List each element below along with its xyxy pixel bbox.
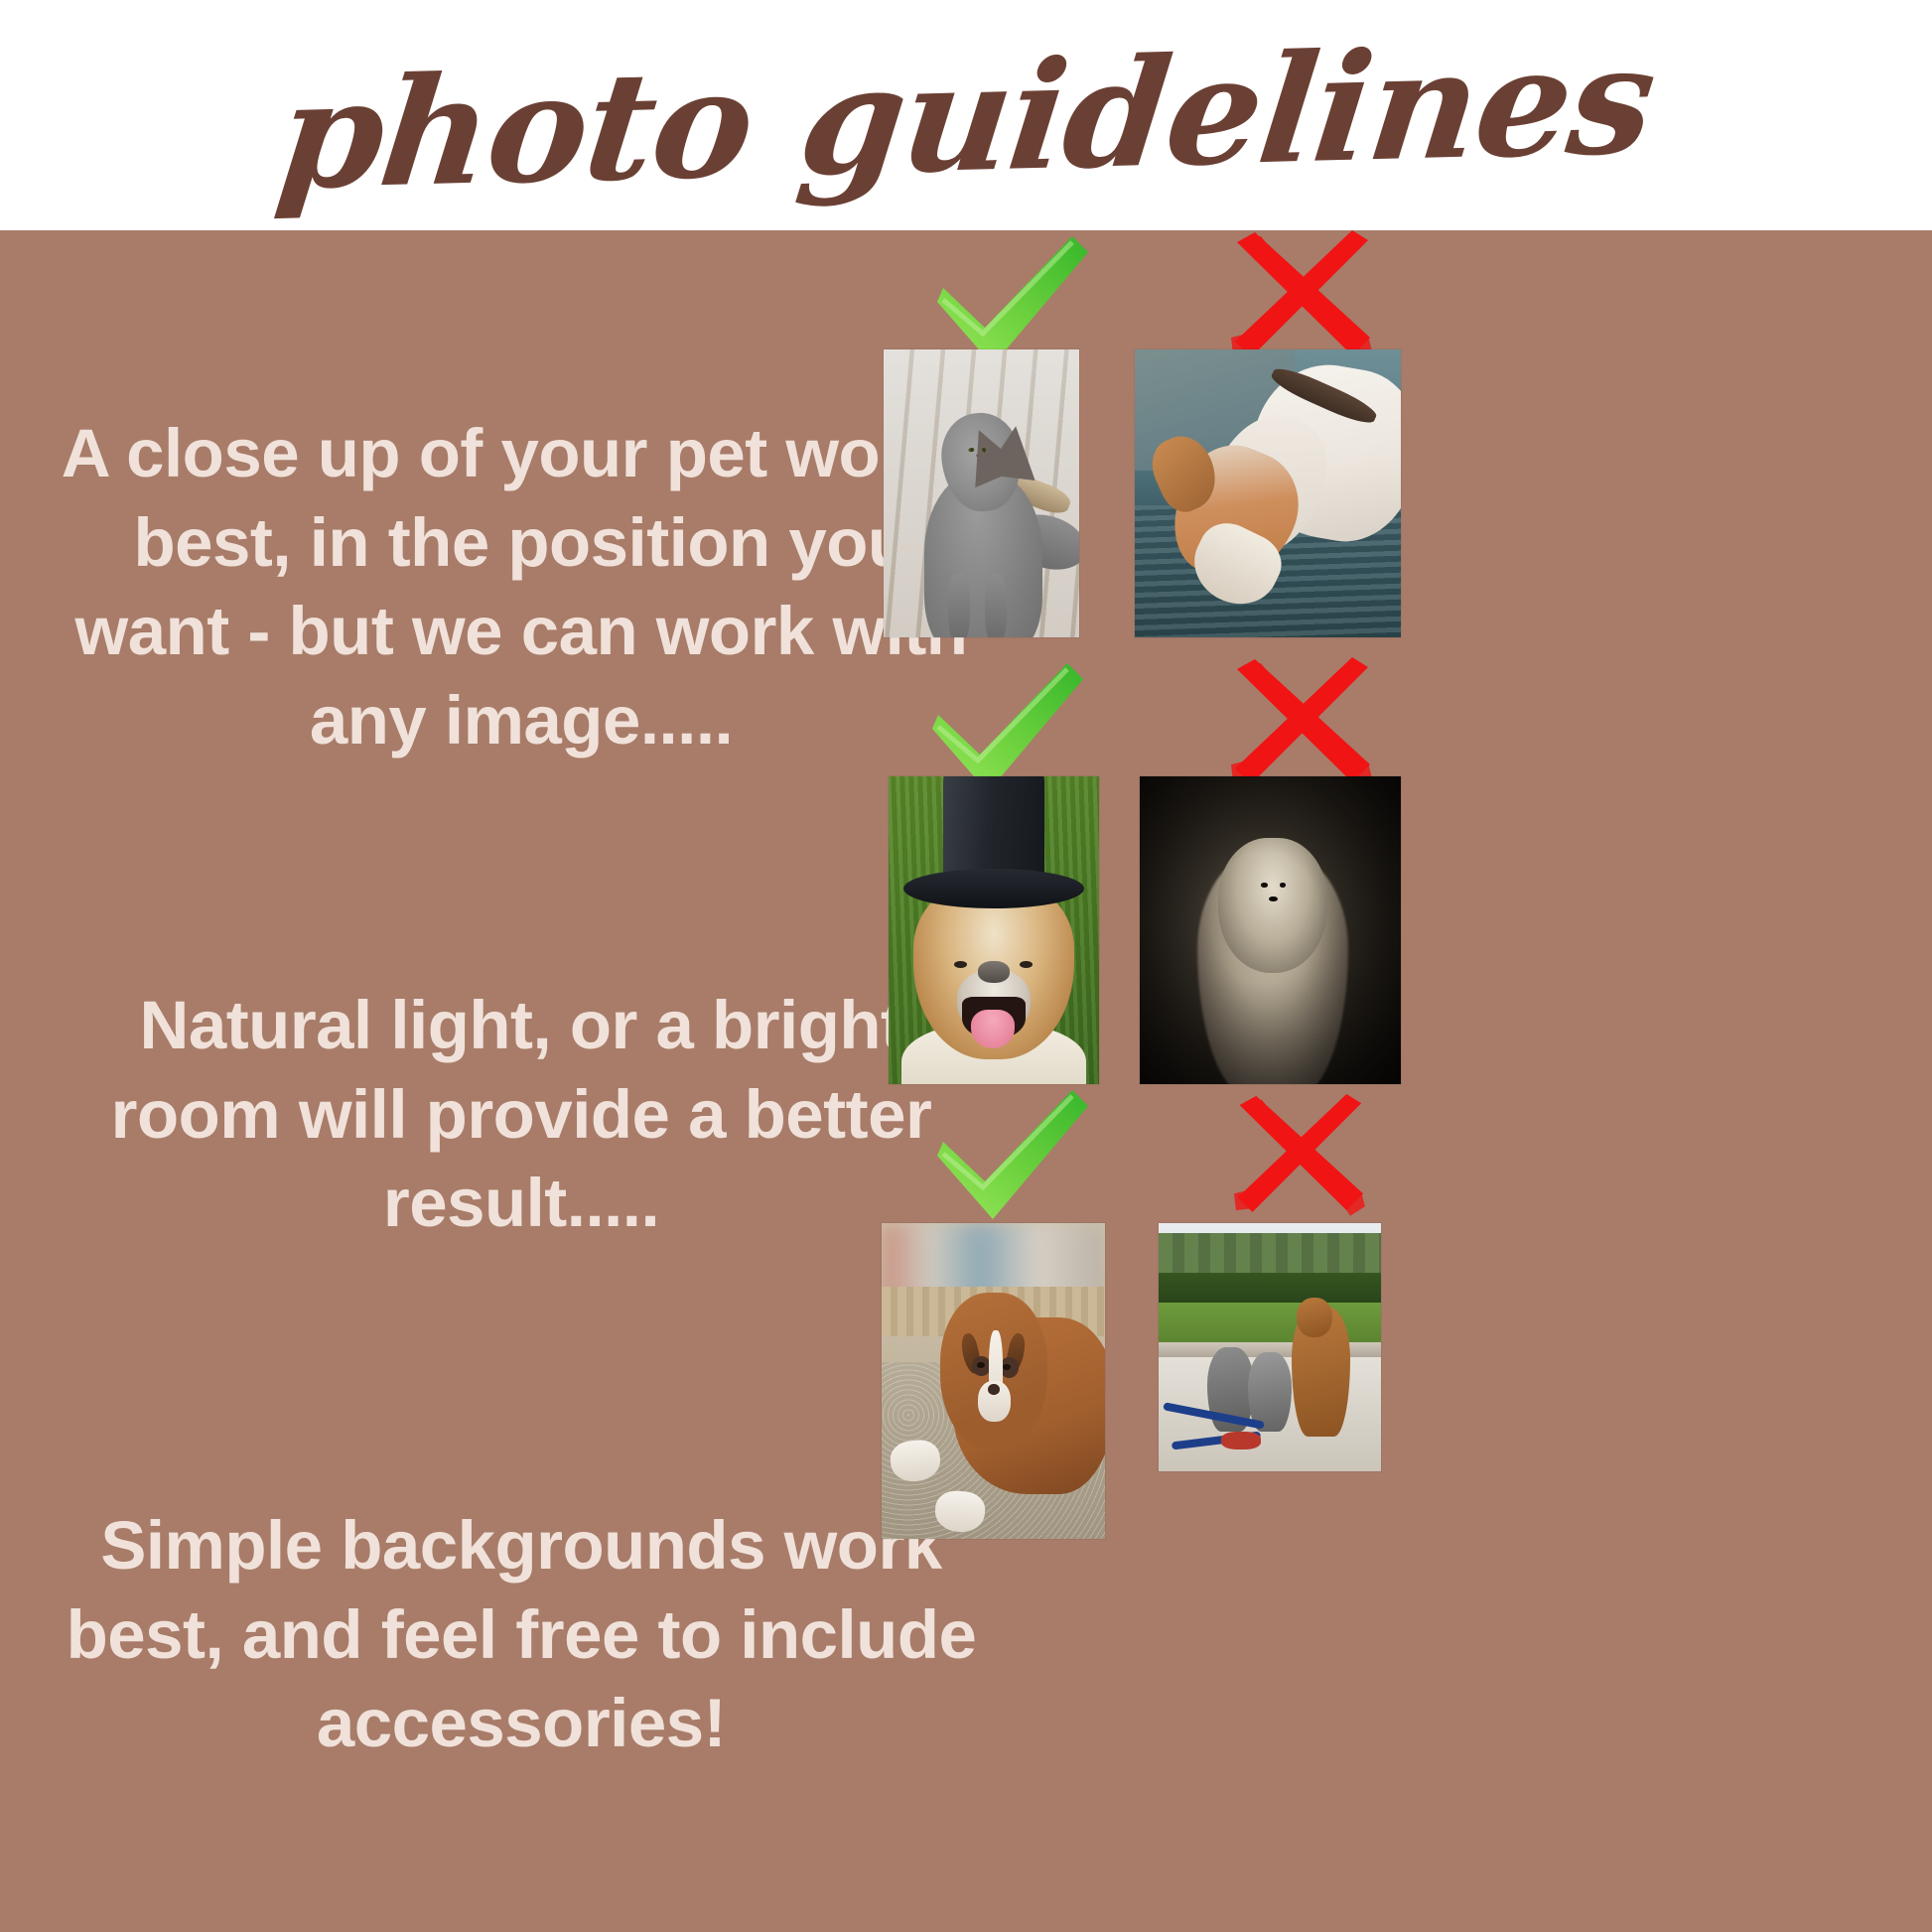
tip-text-2: Natural light, or a bright room will pro…: [60, 981, 983, 1248]
guidelines-body: A close up of your pet works best, in th…: [0, 230, 1932, 1932]
cross-mark-icon-1: [1221, 230, 1380, 369]
bad-photo-3: [1159, 1223, 1381, 1471]
cross-mark-icon-3: [1224, 1094, 1373, 1223]
header-banner: photo guidelines: [0, 0, 1932, 230]
check-mark-icon-2: [918, 657, 1097, 796]
bad-photo-2: [1140, 776, 1401, 1084]
check-mark-icon-3: [923, 1084, 1102, 1223]
good-photo-2: [889, 776, 1099, 1084]
cross-mark-icon-2: [1221, 657, 1380, 796]
check-mark-icon-1: [923, 230, 1102, 369]
good-photo-1: [884, 349, 1079, 637]
bad-photo-1: [1135, 349, 1401, 637]
tip-text-1: A close up of your pet works best, in th…: [60, 409, 983, 765]
tips-text-column: A close up of your pet works best, in th…: [60, 230, 983, 1932]
tip-text-3: Simple backgrounds work best, and feel f…: [60, 1501, 983, 1768]
good-photo-3: [882, 1223, 1105, 1539]
page-title: photo guidelines: [271, 26, 1660, 210]
